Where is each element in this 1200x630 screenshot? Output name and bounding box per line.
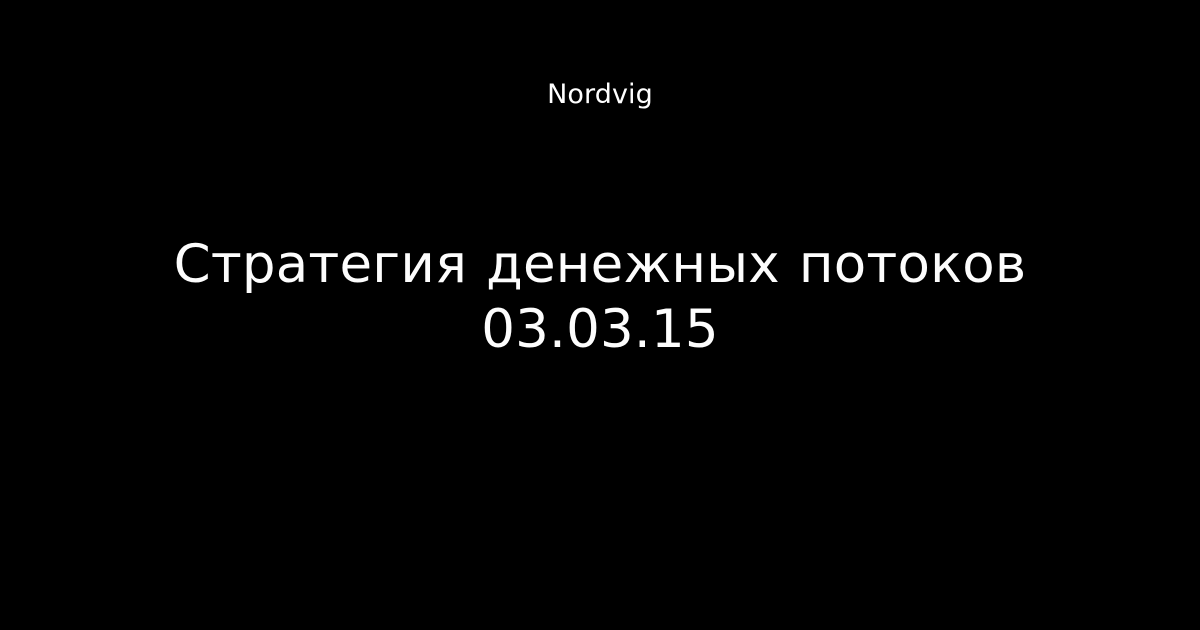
preview-card: Nordvig Стратегия денежных потоков 03.03… xyxy=(0,0,1200,630)
site-name: Nordvig xyxy=(0,78,1200,112)
headline-block: Стратегия денежных потоков 03.03.15 xyxy=(0,232,1200,362)
page-title: Стратегия денежных потоков 03.03.15 xyxy=(100,232,1100,362)
page-title-line-1: Стратегия денежных потоков xyxy=(174,234,1027,295)
page-title-date: 03.03.15 xyxy=(481,299,719,360)
